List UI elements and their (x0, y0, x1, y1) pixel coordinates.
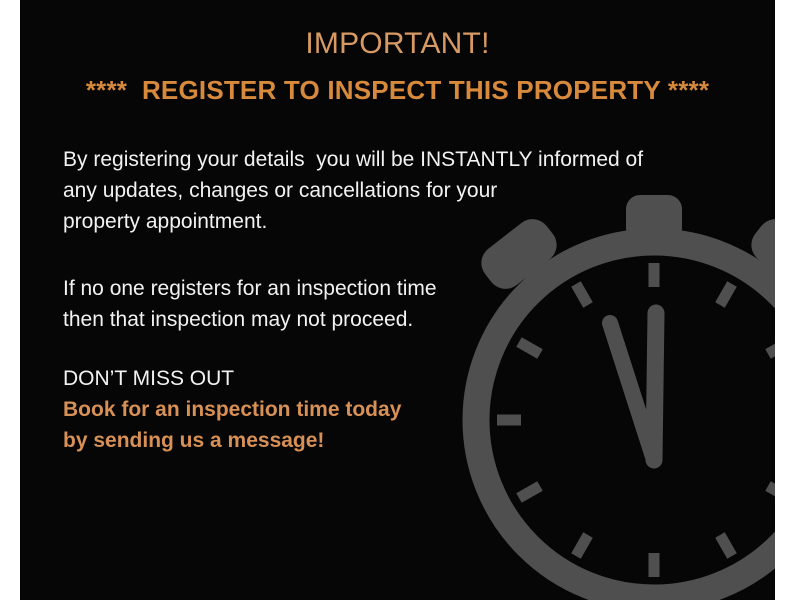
cta-line1: Book for an inspection time today (63, 394, 743, 425)
call-to-action-block: DON’T MISS OUT Book for an inspection ti… (63, 363, 743, 456)
paragraph2-line1: If no one registers for an inspection ti… (63, 273, 743, 304)
text-layer: IMPORTANT! **** REGISTER TO INSPECT THIS… (20, 0, 775, 600)
page-title: IMPORTANT! (20, 27, 775, 61)
paragraph1-line3: property appointment. (63, 206, 743, 237)
cta-lead-text: DON’T MISS OUT (63, 363, 743, 394)
cta-line2: by sending us a message! (63, 425, 743, 456)
paragraph1-line2: any updates, changes or cancellations fo… (63, 175, 743, 206)
page-subtitle: **** REGISTER TO INSPECT THIS PROPERTY *… (20, 75, 775, 106)
promotional-slide: IMPORTANT! **** REGISTER TO INSPECT THIS… (0, 0, 800, 600)
slide-panel: IMPORTANT! **** REGISTER TO INSPECT THIS… (20, 0, 775, 600)
paragraph-no-registration-warning: If no one registers for an inspection ti… (63, 273, 743, 335)
paragraph-registering-details: By registering your details you will be … (63, 144, 743, 237)
paragraph2-line2: then that inspection may not proceed. (63, 304, 743, 335)
paragraph1-line1: By registering your details you will be … (63, 144, 743, 175)
